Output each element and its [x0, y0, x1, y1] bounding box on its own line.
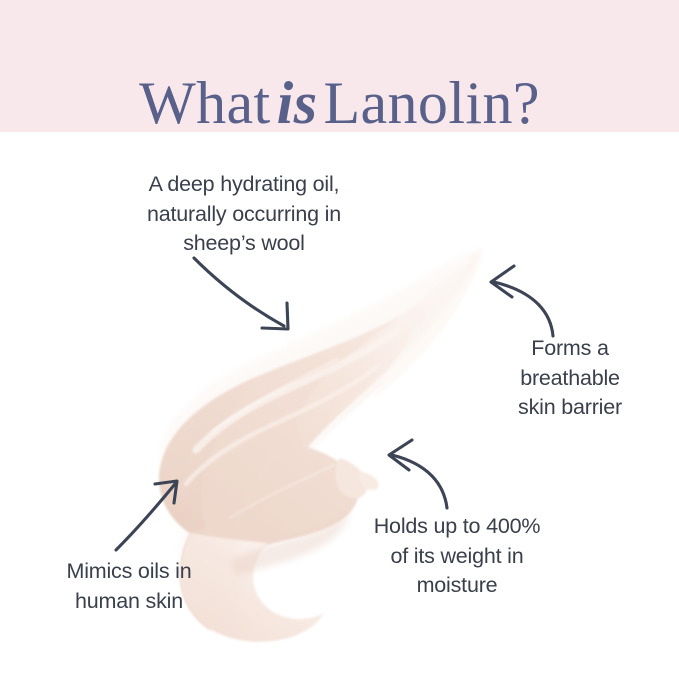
callout-hydrating-oil: A deep hydrating oil, naturally occurrin… — [104, 170, 384, 259]
arrow-to-mimics-oils — [116, 481, 177, 550]
arrow-to-moisture — [389, 440, 447, 508]
callout-skin-barrier: Forms a breathable skin barrier — [470, 334, 670, 423]
arrow-to-skin-barrier — [491, 266, 553, 336]
illustration-canvas: A deep hydrating oil, naturally occurrin… — [0, 132, 679, 679]
arrow-to-hydrating-oil — [194, 258, 288, 329]
header-band: What is Lanolin? — [0, 0, 679, 132]
page-title-emphasis: is — [271, 72, 324, 135]
lanolin-infographic: What is Lanolin? — [0, 0, 679, 679]
callout-moisture: Holds up to 400% of its weight in moistu… — [332, 512, 582, 601]
callout-mimics-oils: Mimics oils in human skin — [28, 557, 230, 616]
page-title-part2: Lanolin? — [323, 72, 539, 135]
page-title-part1: What — [139, 72, 271, 135]
